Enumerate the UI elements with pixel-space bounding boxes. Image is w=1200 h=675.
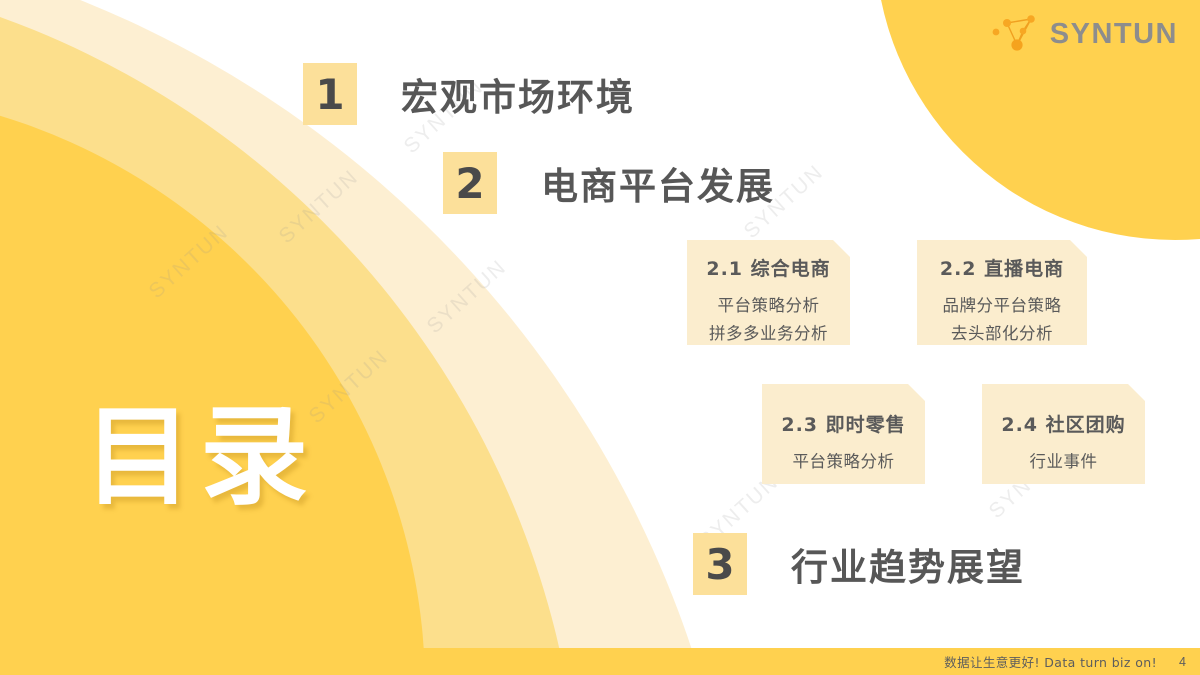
watermark: SYNTUN bbox=[423, 255, 512, 339]
brand-logo: SYNTUN bbox=[990, 10, 1178, 58]
page-number: 4 bbox=[1179, 655, 1186, 669]
section-number-badge: 1 bbox=[303, 63, 357, 125]
section-label: 行业趋势展望 bbox=[791, 537, 1025, 591]
footer-bar: 数据让生意更好! Data turn biz on! 4 bbox=[0, 648, 1200, 675]
sub-card-title: 2.2 直播电商 bbox=[927, 254, 1077, 281]
section-item-2[interactable]: 2 电商平台发展 bbox=[443, 152, 775, 214]
section-item-1[interactable]: 1 宏观市场环境 bbox=[303, 63, 635, 125]
section-number-badge: 2 bbox=[443, 152, 497, 214]
sub-card-line: 去头部化分析 bbox=[927, 320, 1077, 348]
sub-card-line: 平台策略分析 bbox=[697, 292, 840, 320]
footer-tagline: 数据让生意更好! Data turn biz on! bbox=[944, 652, 1157, 671]
sub-card-line: 拼多多业务分析 bbox=[697, 320, 840, 348]
sub-card-line: 行业事件 bbox=[992, 448, 1135, 476]
section-item-3[interactable]: 3 行业趋势展望 bbox=[693, 533, 1025, 595]
constellation-network-icon bbox=[990, 10, 1046, 58]
logo-wordmark: SYNTUN bbox=[1050, 18, 1178, 51]
sub-card-line: 平台策略分析 bbox=[772, 448, 915, 476]
watermark: SYNTUN bbox=[145, 220, 234, 304]
sub-card-title: 2.3 即时零售 bbox=[772, 410, 915, 437]
section-number-badge: 3 bbox=[693, 533, 747, 595]
watermark: SYNTUN bbox=[305, 345, 394, 429]
slide-canvas: SYNTUN SYNTUN SYNTUN SYNTUN SYNTUN SYNTU… bbox=[0, 0, 1200, 675]
section-label: 电商平台发展 bbox=[541, 156, 775, 210]
sub-card-line: 品牌分平台策略 bbox=[927, 292, 1077, 320]
sub-card-title: 2.1 综合电商 bbox=[697, 254, 840, 281]
sub-card-2-4[interactable]: 2.4 社区团购 行业事件 bbox=[982, 384, 1145, 484]
sub-card-2-3[interactable]: 2.3 即时零售 平台策略分析 bbox=[762, 384, 925, 484]
section-label: 宏观市场环境 bbox=[401, 67, 635, 121]
watermark: SYNTUN bbox=[275, 165, 364, 249]
sub-card-2-2[interactable]: 2.2 直播电商 品牌分平台策略 去头部化分析 bbox=[917, 240, 1087, 345]
sub-card-title: 2.4 社区团购 bbox=[992, 410, 1135, 437]
sub-card-2-1[interactable]: 2.1 综合电商 平台策略分析 拼多多业务分析 bbox=[687, 240, 850, 345]
page-title: 目录 bbox=[84, 404, 316, 512]
